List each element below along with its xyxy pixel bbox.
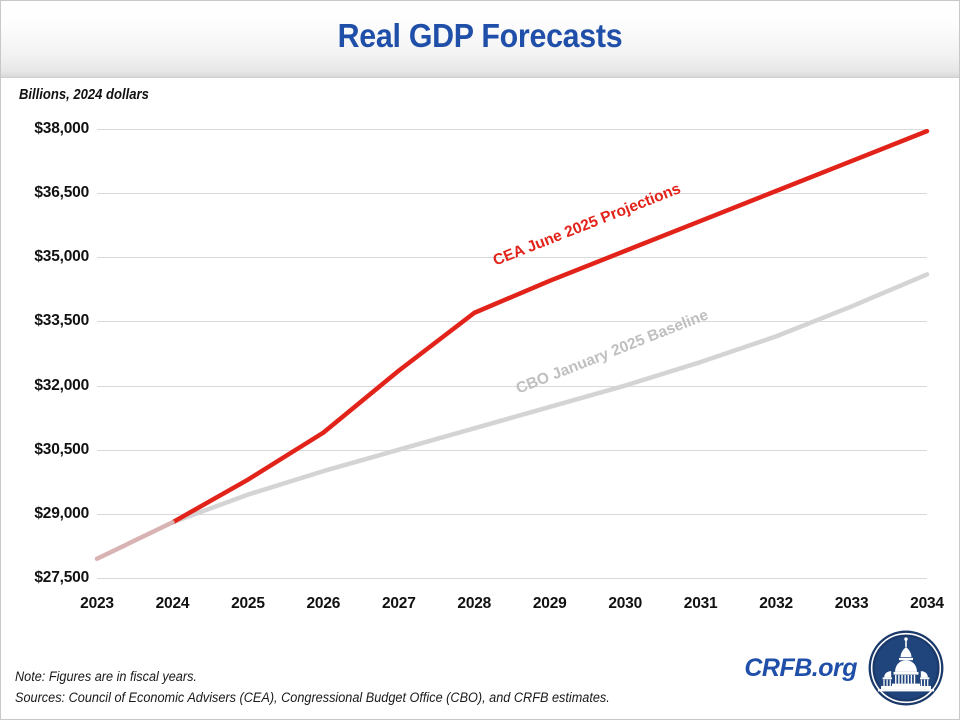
x-axis-tick-label: 2032 [741,595,811,613]
footer-sources: Sources: Council of Economic Advisers (C… [15,688,610,709]
x-axis-tick-label: 2025 [213,595,283,613]
gridline [97,578,927,579]
crfb-logo-text: CRFB.org [744,654,857,683]
x-axis-tick-label: 2028 [439,595,509,613]
footer-notes: Note: Figures are in fiscal years. Sourc… [15,667,610,709]
plot-area [97,129,927,578]
page-title: Real GDP Forecasts [39,17,920,55]
x-axis-tick-label: 2031 [666,595,736,613]
capitol-dome-icon [867,629,945,707]
y-axis-tick-label: $38,000 [7,120,89,138]
x-axis-tick-label: 2024 [137,595,207,613]
y-axis-tick-label: $30,500 [7,441,89,459]
crfb-logo[interactable]: CRFB.org [744,629,945,707]
y-axis-tick-label: $35,000 [7,248,89,266]
line-cbo-baseline [172,274,927,522]
x-axis-tick-label: 2026 [288,595,358,613]
y-axis-tick-label: $32,000 [7,377,89,395]
x-axis-tick-label: 2034 [892,595,960,613]
x-axis-tick-label: 2023 [62,595,132,613]
line-overlap-segment [97,522,172,558]
x-axis-tick-label: 2030 [590,595,660,613]
x-axis-tick-label: 2027 [364,595,434,613]
y-axis-unit-label: Billions, 2024 dollars [19,87,149,103]
x-axis-tick-label: 2033 [817,595,887,613]
series-lines [97,129,927,578]
x-axis-tick-label: 2029 [515,595,585,613]
y-axis-tick-label: $33,500 [7,312,89,330]
line-cea-projection [172,131,927,522]
y-axis-tick-label: $36,500 [7,184,89,202]
y-axis-tick-label: $27,500 [7,569,89,587]
footer-note: Note: Figures are in fiscal years. [15,667,610,688]
y-axis-tick-label: $29,000 [7,505,89,523]
